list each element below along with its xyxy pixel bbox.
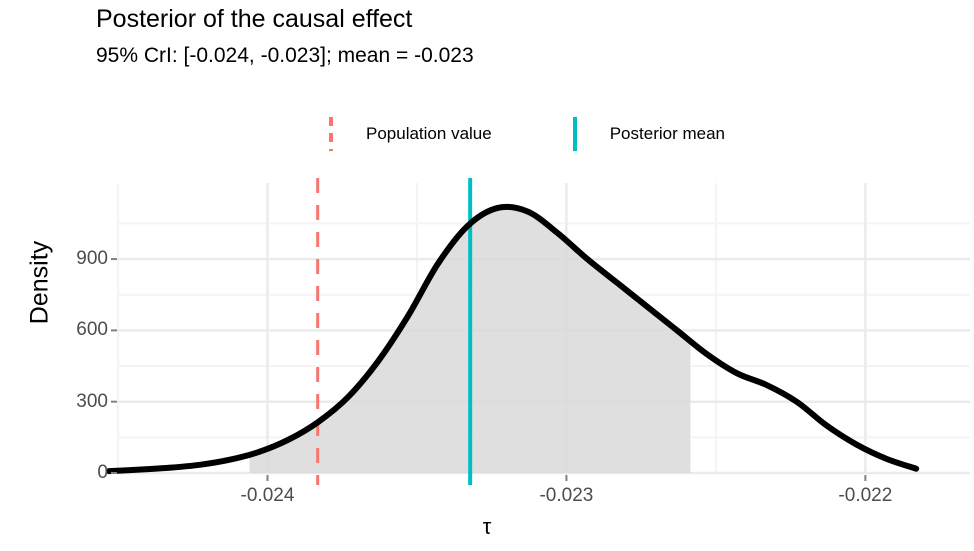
plot-area: 0300600900 -0.024-0.023-0.022 Density τ	[0, 0, 974, 551]
y-tick-label: 600	[8, 319, 108, 341]
x-tick-label: -0.024	[241, 485, 295, 507]
x-axis-label: τ	[0, 514, 974, 540]
chart-root: Posterior of the causal effect 95% CrI: …	[0, 0, 974, 551]
y-tick-label: 300	[8, 391, 108, 413]
x-tick-label: -0.022	[838, 485, 892, 507]
x-tick-label: -0.023	[539, 485, 593, 507]
y-tick-label: 900	[8, 248, 108, 270]
y-tick-label: 0	[8, 462, 108, 484]
plot-panel-svg	[0, 0, 974, 551]
y-axis-label: Density	[26, 223, 55, 343]
